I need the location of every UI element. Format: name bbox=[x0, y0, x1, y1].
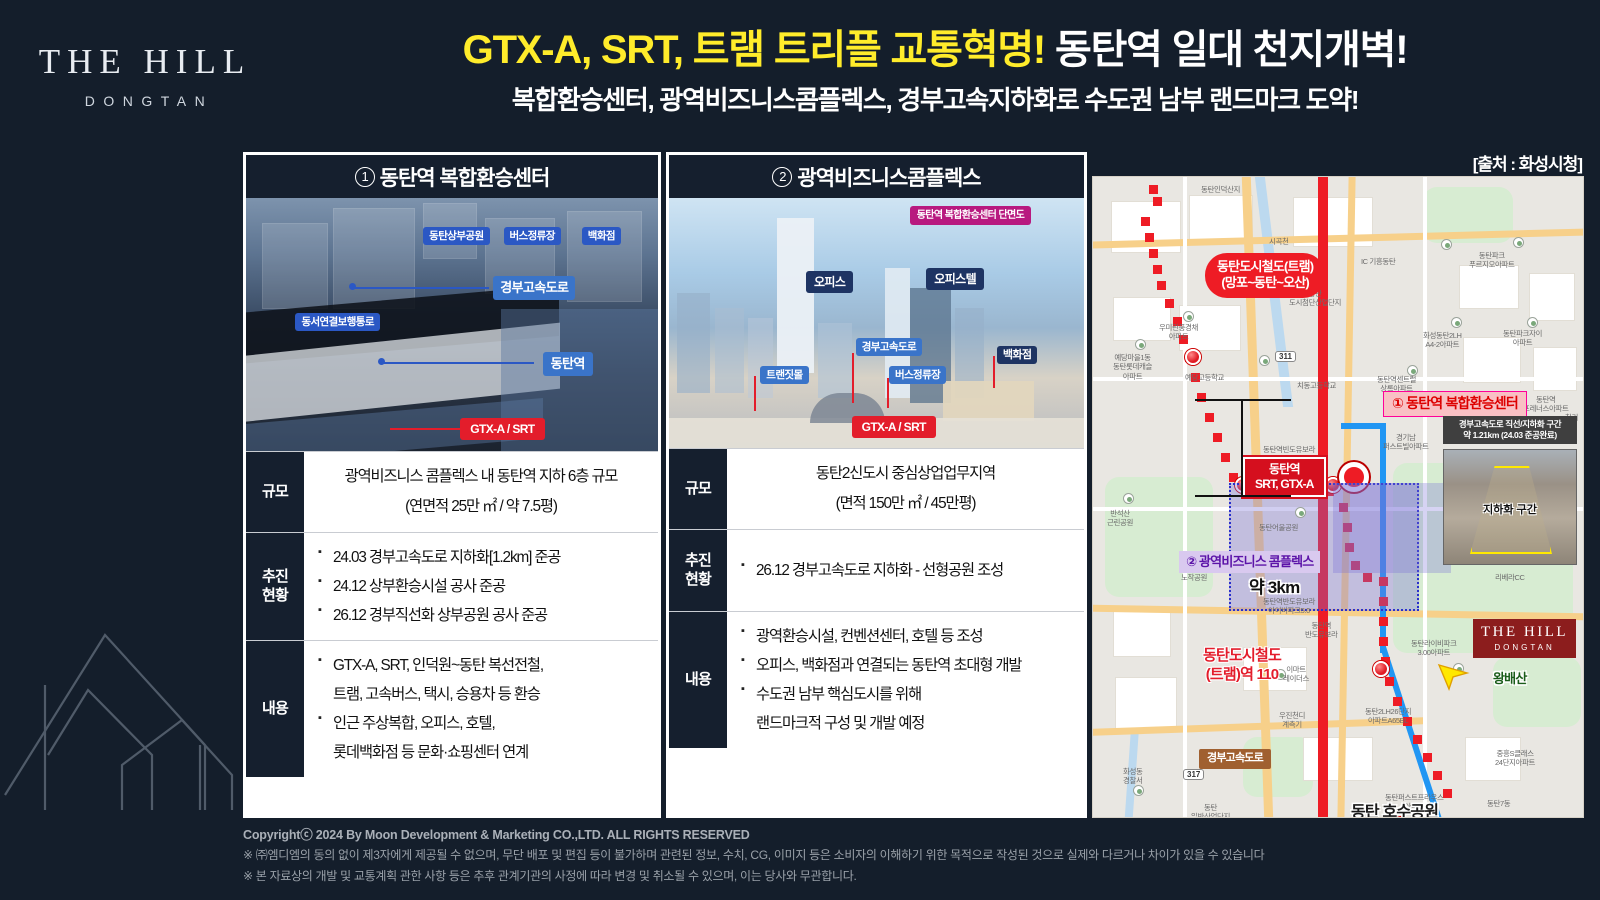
panel2-row1-label: 규모 bbox=[669, 449, 727, 530]
label-transit-mall: 트랜짓몰 bbox=[760, 366, 808, 384]
label-ew-walkway: 동서연결보행통로 bbox=[295, 313, 379, 331]
panel1-row1-line1: 광역비즈니스 콤플렉스 내 동탄역 지하 6층 규모 bbox=[312, 462, 650, 492]
map-place-label: 노작공원 bbox=[1181, 573, 1207, 582]
label-bus-stop: 버스정류장 bbox=[504, 227, 561, 245]
panel1-row2-value: 24.03 경부고속도로 지하화[1.2km] 준공 24.12 상부환승시설 … bbox=[304, 532, 658, 640]
panel1-rendering-image: 동탄상부공원 버스정류장 백화점 경부고속도로 동서연결보행통로 동탄역 GTX… bbox=[246, 198, 658, 451]
map-place-label: 동탄파크자이 아파트 bbox=[1503, 329, 1542, 348]
footer-copyright: Copyrightⓒ 2024 By Moon Development & Ma… bbox=[243, 826, 1583, 845]
panel2-row2-bullet1: 26.12 경부고속도로 지하화 - 선형공원 조성 bbox=[741, 556, 1076, 585]
callout-tram-station-name: 동탄도시철도 bbox=[1203, 647, 1281, 664]
map-place-label: IC 기흥동탄 bbox=[1361, 257, 1395, 266]
panel1-row1-label: 규모 bbox=[246, 452, 304, 533]
table-row: 추진 현황 26.12 경부고속도로 지하화 - 선형공원 조성 bbox=[669, 529, 1084, 611]
panel1-row3-label: 내용 bbox=[246, 640, 304, 777]
hill-watermark-icon bbox=[0, 580, 250, 900]
map-place-label: 화성동탄2LH A4-2아파트 bbox=[1423, 331, 1462, 350]
panel1-header: 1 동탄역 복합환승센터 bbox=[246, 155, 658, 198]
callout-tram-station-110: 동탄도시철도 (트램)역 110 bbox=[1203, 647, 1281, 685]
panel1-number: 1 bbox=[355, 167, 375, 187]
label-expressway-2: 경부고속도로 bbox=[856, 338, 922, 356]
hill-badge-title: THE HILL bbox=[1481, 624, 1568, 641]
label-gtx-srt: GTX-A / SRT bbox=[460, 418, 544, 440]
footer: Copyrightⓒ 2024 By Moon Development & Ma… bbox=[243, 826, 1583, 887]
callout-station-lines: SRT, GTX-A bbox=[1255, 477, 1314, 492]
road-shield: 311 bbox=[1275, 351, 1296, 362]
map-place-label: 화성동 경찰서 bbox=[1123, 767, 1143, 786]
panel1-row2-bullet1: 24.03 경부고속도로 지하화[1.2km] 준공 bbox=[318, 543, 650, 572]
callout-tram-line: 동탄도시철도(트램) (망포~동탄~오산) bbox=[1205, 253, 1325, 298]
tram-line-seg1 bbox=[1341, 423, 1385, 429]
brand-subtitle: DONGTAN bbox=[25, 93, 265, 109]
panel1-row3-cont1: 트램, 고속버스, 택시, 승용차 등 환승 bbox=[318, 680, 650, 709]
map-place-label: 동탄라이비파크 3.00아파트 bbox=[1411, 639, 1457, 658]
brand-name: THE HILL bbox=[25, 42, 265, 82]
tunnel-caption-line2: 약 1.21km (24.03 준공완료) bbox=[1445, 430, 1575, 441]
label-upper-park: 동탄상부공원 bbox=[423, 227, 489, 245]
panel2-row3-bullet1: 광역환승시설, 컨벤션센터, 호텔 등 조성 bbox=[741, 622, 1076, 651]
panel2-row3-value: 광역환승시설, 컨벤션센터, 호텔 등 조성 오피스, 백화점과 연결되는 동탄… bbox=[727, 611, 1084, 748]
panel2-row3-cont1: 랜드마크적 구성 및 개발 예정 bbox=[741, 709, 1076, 738]
panel2-image-badge: 동탄역 복합환승센터 단면도 bbox=[910, 206, 1032, 226]
map-place-label: 이마트 레이더스 bbox=[1283, 665, 1309, 684]
panel2-rendering-image: 동탄역 복합환승센터 단면도 오피스 오피스텔 경부고속도로 버스정류장 백화점… bbox=[669, 198, 1084, 448]
callout-expressway: 경부고속도로 bbox=[1199, 749, 1271, 769]
label-gyeongbu-expressway: 경부고속도로 bbox=[493, 276, 575, 300]
panel1-row1-value: 광역비즈니스 콤플렉스 내 동탄역 지하 6층 규모 (연면적 25만 ㎡ / … bbox=[304, 452, 658, 533]
map-place-label: 동탄역반도유보라 아이비파크5.0 bbox=[1263, 597, 1315, 616]
map-place-label: 예당고등학교 bbox=[1185, 373, 1224, 382]
table-row: 규모 동탄2신도시 중심상업업무지역 (면적 150만 ㎡ / 45만평) bbox=[669, 449, 1084, 530]
table-row: 규모 광역비즈니스 콤플렉스 내 동탄역 지하 6층 규모 (연면적 25만 ㎡… bbox=[246, 452, 658, 533]
map-place-label: 동탄어울공원 bbox=[1259, 523, 1298, 532]
label-department-store: 백화점 bbox=[582, 227, 621, 245]
label-office: 오피스 bbox=[806, 271, 853, 293]
tram-station-dot[interactable] bbox=[1185, 349, 1201, 365]
callout-lake-park: 동탄 호수공원 bbox=[1351, 803, 1438, 818]
panel2-row3-label: 내용 bbox=[669, 611, 727, 748]
panel1-title: 동탄역 복합환승센터 bbox=[380, 162, 550, 192]
map-place-label: 동탄2LH26단지 아파트A65BL bbox=[1365, 707, 1411, 726]
hill-map-badge: THE HILL DONGTAN bbox=[1473, 619, 1576, 658]
headline: GTX-A, SRT, 트램 트리플 교통혁명! 동탄역 일대 천지개벽! 복합… bbox=[290, 28, 1580, 117]
callout-transfer-center: ① 동탄역 복합환승센터 bbox=[1383, 391, 1527, 417]
label-dongtan-station: 동탄역 bbox=[543, 352, 593, 376]
table-row: 내용 광역환승시설, 컨벤션센터, 호텔 등 조성 오피스, 백화점과 연결되는… bbox=[669, 611, 1084, 748]
map-place-label: 반석산 근린공원 bbox=[1107, 509, 1133, 528]
map-canvas[interactable]: 311 317 동탄인덕산지 시곡천 IC 기흥동탄 동탄파크 푸르지오아파트 … bbox=[1092, 176, 1584, 818]
panel1-row3-cont2: 롯데백화점 등 문화·쇼핑센터 연계 bbox=[318, 738, 650, 767]
panel1-row2-label: 추진 현황 bbox=[246, 532, 304, 640]
location-arrow-icon bbox=[1437, 661, 1471, 691]
map-place-label: 동탄파크 푸르지오아파트 bbox=[1469, 251, 1515, 270]
gyeongbu-expressway-line bbox=[1318, 177, 1328, 457]
panel1-row2-bullet2: 24.12 상부환승시설 공사 준공 bbox=[318, 572, 650, 601]
map-place-label: 시곡천 bbox=[1269, 237, 1289, 246]
callout-tram-line-main: 동탄도시철도(트램) bbox=[1217, 259, 1313, 274]
panel1-spec-table: 규모 광역비즈니스 콤플렉스 내 동탄역 지하 6층 규모 (연면적 25만 ㎡… bbox=[246, 451, 658, 777]
tunnel-caption-line1: 경부고속도로 직선/지하화 구간 bbox=[1445, 419, 1575, 430]
brand-logo: THE HILL DONGTAN bbox=[25, 42, 265, 109]
slide-root: THE HILL DONGTAN GTX-A, SRT, 트램 트리플 교통혁명… bbox=[0, 0, 1600, 900]
panel2-row2-value: 26.12 경부고속도로 지하화 - 선형공원 조성 bbox=[727, 529, 1084, 611]
callout-tram-line-sub: (망포~동탄~오산) bbox=[1221, 275, 1309, 290]
panel1-row2-bullet3: 26.12 경부직선화 상부공원 공사 준공 bbox=[318, 601, 650, 630]
label-gtx-srt-2: GTX-A / SRT bbox=[852, 416, 936, 438]
panel2-row1-value: 동탄2신도시 중심상업업무지역 (면적 150만 ㎡ / 45만평) bbox=[727, 449, 1084, 530]
road-shield: 317 bbox=[1183, 769, 1204, 780]
panel2-row3-bullet3: 수도권 남부 핵심도시를 위해 bbox=[741, 680, 1076, 709]
callout-station-name: 동탄역 bbox=[1255, 462, 1314, 477]
table-row: 추진 현황 24.03 경부고속도로 지하화[1.2km] 준공 24.12 상… bbox=[246, 532, 658, 640]
panel2-row2-label: 추진 현황 bbox=[669, 529, 727, 611]
headline-white-text: 동탄역 일대 천지개벽! bbox=[1055, 28, 1407, 72]
panel-transfer-center: 1 동탄역 복합환승센터 동탄상부공원 버스정류장 백화점 경부고속도로 동서연… bbox=[243, 152, 661, 818]
map-place-label: 중흥S클래스 24단지아파트 bbox=[1495, 749, 1535, 768]
panel2-number: 2 bbox=[772, 167, 792, 187]
callout-distance: 약 3km bbox=[1249, 577, 1299, 598]
tram-station-dot[interactable] bbox=[1373, 661, 1389, 677]
headline-line-1: GTX-A, SRT, 트램 트리플 교통혁명! 동탄역 일대 천지개벽! bbox=[290, 28, 1580, 73]
headline-yellow-text: GTX-A, SRT, 트램 트리플 교통혁명! bbox=[463, 28, 1045, 72]
panel2-spec-table: 규모 동탄2신도시 중심상업업무지역 (면적 150만 ㎡ / 45만평) 추진… bbox=[669, 448, 1084, 748]
map-place-label: 리베라CC bbox=[1495, 573, 1525, 582]
business-complex-zone-east bbox=[1333, 483, 1451, 573]
panel1-row1-line2: (연면적 25만 ㎡ / 약 7.5평) bbox=[312, 492, 650, 522]
map-panel: [출처 : 화성시청] bbox=[1092, 152, 1584, 818]
panel1-row3-bullet1: GTX-A, SRT, 인덕원~동탄 복선전철, bbox=[318, 651, 650, 680]
map-place-label: 동탄역 포레너스아파트 bbox=[1523, 395, 1569, 414]
tunnel-photo-inset: 지하화 구간 bbox=[1443, 449, 1577, 565]
panel2-row1-line1: 동탄2신도시 중심상업업무지역 bbox=[735, 459, 1076, 489]
label-dept-store-2: 백화점 bbox=[997, 346, 1038, 365]
panel1-row3-bullet2: 인근 주상복합, 오피스, 호텔, bbox=[318, 709, 650, 738]
panel-business-complex: 2 광역비즈니스콤플렉스 동탄역 복합환승센터 단면도 오피스 오피스텔 경부고… bbox=[666, 152, 1087, 818]
panel2-row3-bullet2: 오피스, 백화점과 연결되는 동탄역 초대형 개발 bbox=[741, 651, 1076, 680]
tram-station-dot[interactable] bbox=[1393, 817, 1409, 818]
panel2-header: 2 광역비즈니스콤플렉스 bbox=[669, 155, 1084, 198]
headline-line-2: 복합환승센터, 광역비즈니스콤플렉스, 경부고속지하화로 수도권 남부 랜드마크… bbox=[290, 80, 1580, 117]
footer-note-1: ※ ㈜엠디엠의 동의 없이 제3자에게 제공될 수 없으며, 무단 배포 및 편… bbox=[243, 845, 1583, 866]
map-place-label: 우진천디 계측기 bbox=[1279, 711, 1305, 730]
hill-badge-sub: DONGTAN bbox=[1481, 643, 1568, 652]
footer-note-2: ※ 본 자료상의 개발 및 교통계획 관한 사항 등은 추후 관계기관의 사정에… bbox=[243, 866, 1583, 887]
map-place-label: 동탄 일반산업단지 bbox=[1191, 803, 1230, 818]
label-bus-stop-2: 버스정류장 bbox=[889, 366, 946, 384]
map-place-label: 우미린풍경채 아파트 bbox=[1159, 323, 1198, 342]
panel2-row1-line2: (면적 150만 ㎡ / 45만평) bbox=[735, 489, 1076, 519]
map-source-note: [출처 : 화성시청] bbox=[1473, 150, 1582, 175]
panel2-title: 광역비즈니스콤플렉스 bbox=[797, 162, 980, 192]
label-officetel: 오피스텔 bbox=[926, 268, 984, 290]
table-row: 내용 GTX-A, SRT, 인덕원~동탄 복선전철, 트램, 고속버스, 택시… bbox=[246, 640, 658, 777]
callout-business-complex: ② 광역비즈니스 콤플렉스 bbox=[1179, 551, 1320, 573]
map-place-label: 동탄인덕산지 bbox=[1201, 185, 1240, 194]
map-place-label: 예당마을1동 동탄롯데캐슬 아파트 bbox=[1113, 353, 1152, 381]
map-place-label: 치동고등학교 bbox=[1297, 381, 1336, 390]
callout-dongtan-station: 동탄역 SRT, GTX-A bbox=[1243, 457, 1326, 497]
panel1-row3-value: GTX-A, SRT, 인덕원~동탄 복선전철, 트램, 고속버스, 택시, 승… bbox=[304, 640, 658, 777]
map-place-label: 동탄역빈도유보라 bbox=[1263, 445, 1315, 454]
tunnel-photo-caption: 경부고속도로 직선/지하화 구간 약 1.21km (24.03 준공완료) bbox=[1443, 416, 1577, 444]
map-place-label: 동탄7동 bbox=[1487, 799, 1510, 808]
map-place-label: 경기남 퍼스트빌아파트 bbox=[1383, 433, 1429, 452]
map-place-label: 동탄역 반도유보라 bbox=[1305, 621, 1338, 640]
tunnel-photo-tag: 지하화 구간 bbox=[1483, 501, 1537, 517]
callout-mountain: 왕배산 bbox=[1493, 671, 1526, 687]
callout-tram-station-number: (트램)역 110 bbox=[1206, 666, 1279, 683]
